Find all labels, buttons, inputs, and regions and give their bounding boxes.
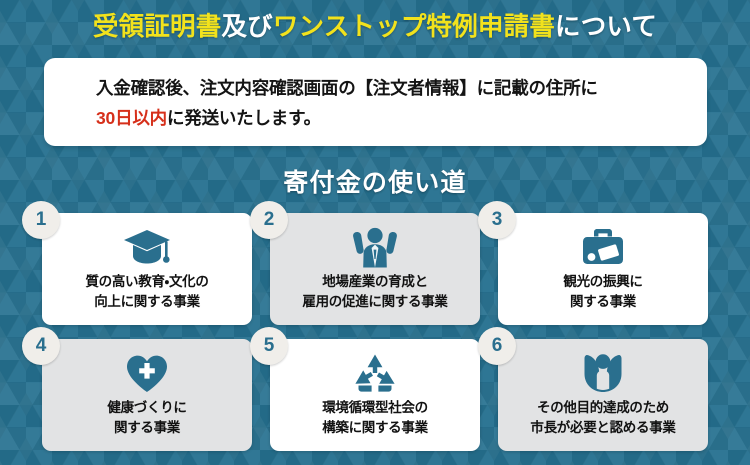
- card-label-line-5-2: 構築に関する事業: [322, 418, 428, 438]
- usage-card-4[interactable]: 4 健康づくりに 関する事業: [42, 339, 252, 451]
- card-label-line-4-1: 健康づくりに: [107, 398, 186, 418]
- usage-card-grid: 1 質の高い教育・文化の 向上に関する事業 2: [42, 213, 708, 451]
- card-number-badge-4: 4: [22, 327, 60, 365]
- card-label-line-3-2: 関する事業: [570, 292, 636, 312]
- section-heading: 寄付金の使い道: [0, 163, 750, 199]
- card-label-line-2-2: 雇用の促進に関する事業: [302, 292, 447, 312]
- recycle-icon: [352, 351, 398, 395]
- card-number-badge-2: 2: [250, 201, 288, 239]
- graduation-cap-icon: [122, 225, 172, 269]
- card-label-line-4-2: 関する事業: [114, 418, 180, 438]
- title-part-1: 受領証明書: [93, 13, 222, 41]
- usage-card-1[interactable]: 1 質の高い教育・文化の 向上に関する事業: [42, 213, 252, 325]
- person-raising-arms-icon: [351, 225, 399, 269]
- suitcase-icon: [579, 225, 627, 269]
- card-number-badge-6: 6: [478, 327, 516, 365]
- heart-plus-icon: [124, 351, 170, 395]
- title-part-2: 及び: [221, 13, 272, 41]
- card-label-line-2-1: 地場産業の育成と: [322, 272, 428, 292]
- card-number-badge-1: 1: [22, 201, 60, 239]
- notice-deadline-highlight: 30日以内: [96, 108, 167, 128]
- notice-line-1: 入金確認後、注文内容確認画面の【注文者情報】に記載の住所に: [96, 73, 693, 103]
- card-label-line-3-1: 観光の振興に: [563, 272, 642, 292]
- usage-card-2[interactable]: 2 地場産業の育成と 雇用の促進に関する事業: [270, 213, 480, 325]
- usage-card-6[interactable]: 6 その他目的達成のため 市長が必要と認める事業: [498, 339, 708, 451]
- notice-line-2: 30日以内に発送いたします。: [96, 103, 693, 133]
- card-label-line-1-2: 向上に関する事業: [94, 292, 200, 312]
- card-label-line-1-1: 質の高い教育・文化の: [85, 272, 208, 292]
- card-number-badge-3: 3: [478, 201, 516, 239]
- usage-card-5[interactable]: 5 環境循環型社会の 構築に関する事業: [270, 339, 480, 451]
- card-number-badge-5: 5: [250, 327, 288, 365]
- page-title: 受領証明書及びワンストップ特例申請書について: [0, 8, 750, 46]
- infographic-page: 受領証明書及びワンストップ特例申請書について 入金確認後、注文内容確認画面の【注…: [0, 0, 750, 465]
- person-open-arms-icon: [581, 351, 625, 395]
- usage-card-3[interactable]: 3 観光の振興に 関する事業: [498, 213, 708, 325]
- notice-line-2-rest: に発送いたします。: [167, 108, 321, 128]
- card-label-line-6-1: その他目的達成のため: [537, 398, 669, 418]
- notice-panel: 入金確認後、注文内容確認画面の【注文者情報】に記載の住所に 30日以内に発送いた…: [44, 58, 707, 146]
- notice-text-block: 入金確認後、注文内容確認画面の【注文者情報】に記載の住所に 30日以内に発送いた…: [96, 73, 693, 133]
- title-part-3: ワンストップ特例申請書: [273, 13, 555, 41]
- card-label-line-6-2: 市長が必要と認める事業: [530, 418, 675, 438]
- card-label-line-5-1: 環境循環型社会の: [322, 398, 428, 418]
- title-part-4: について: [555, 13, 657, 41]
